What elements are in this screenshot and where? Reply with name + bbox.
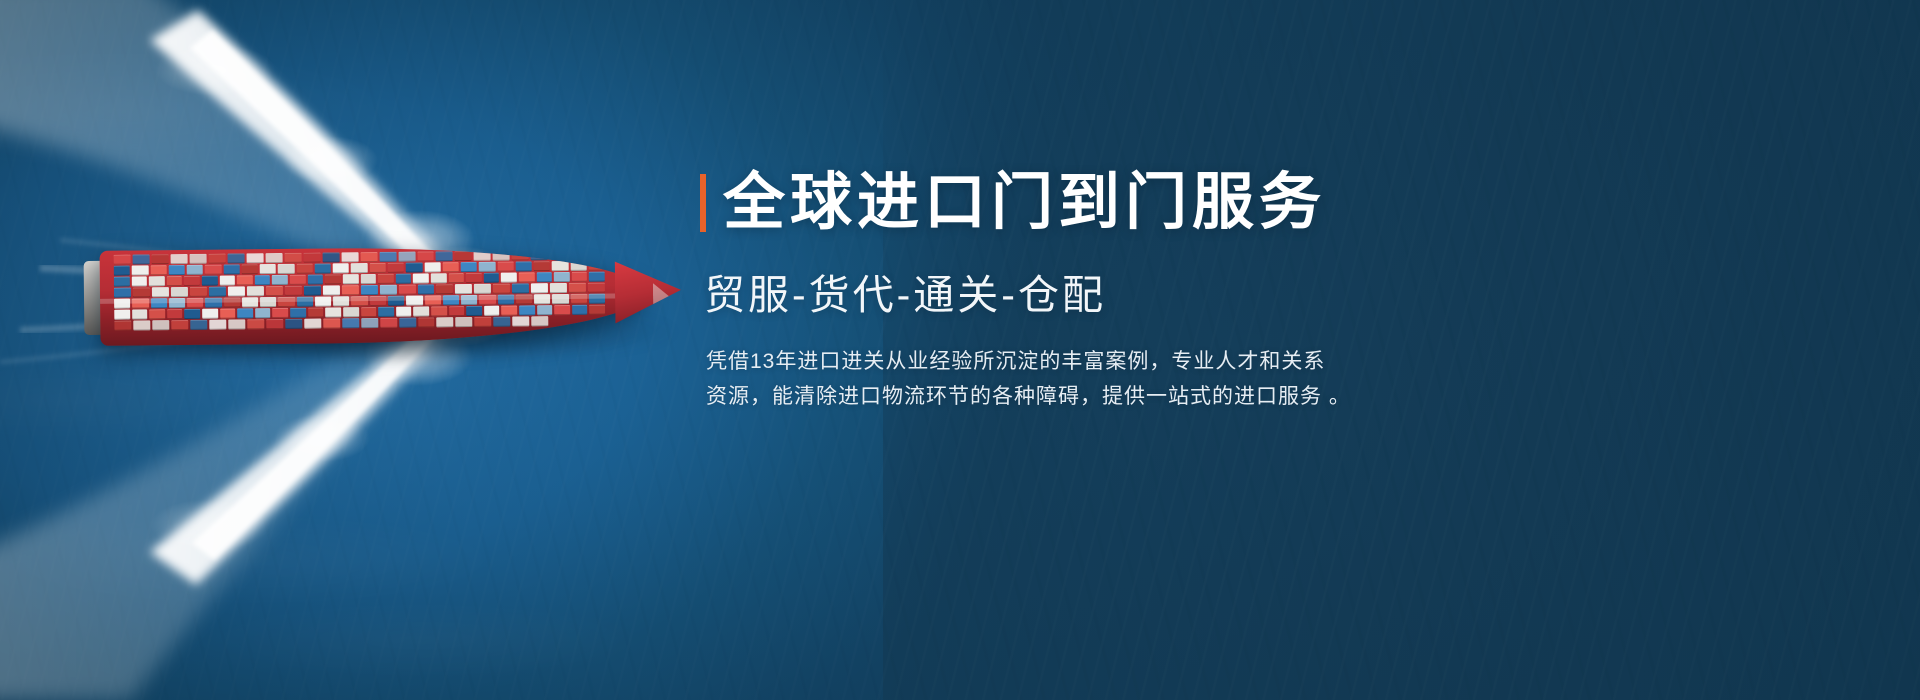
cargo-container bbox=[398, 285, 415, 295]
cargo-container bbox=[417, 284, 434, 294]
cargo-container bbox=[131, 276, 147, 286]
banner-title: 全球进口门到门服务 bbox=[723, 172, 1326, 234]
cargo-container bbox=[436, 284, 453, 294]
cargo-container bbox=[247, 286, 264, 296]
cargo-container bbox=[396, 307, 412, 317]
cargo-container bbox=[442, 262, 458, 272]
cargo-container bbox=[351, 263, 367, 273]
cargo-container bbox=[554, 272, 570, 282]
cargo-container bbox=[378, 307, 394, 317]
cargo-container bbox=[187, 265, 203, 275]
cargo-container bbox=[534, 261, 550, 271]
cargo-container bbox=[466, 273, 482, 283]
cargo-container bbox=[484, 273, 500, 283]
cargo-container bbox=[272, 275, 288, 285]
cargo-container bbox=[474, 284, 491, 294]
cargo-container bbox=[266, 319, 283, 329]
cargo-container bbox=[208, 254, 225, 264]
cargo-container bbox=[171, 320, 188, 330]
cargo-container bbox=[361, 307, 377, 317]
cargo-container bbox=[220, 308, 236, 318]
cargo-container bbox=[570, 261, 586, 271]
cargo-container bbox=[589, 272, 605, 282]
cargo-container bbox=[437, 317, 454, 327]
cargo-container bbox=[378, 274, 394, 284]
cargo-container bbox=[552, 261, 568, 271]
cargo-container bbox=[536, 272, 552, 282]
cargo-container bbox=[343, 307, 359, 317]
cargo-container bbox=[285, 286, 302, 296]
cargo-container bbox=[569, 283, 586, 293]
cargo-container bbox=[361, 318, 378, 328]
cargo-container bbox=[343, 274, 359, 284]
cargo-container bbox=[590, 305, 606, 315]
cargo-container bbox=[246, 253, 263, 263]
cargo-container bbox=[333, 263, 349, 273]
cargo-container bbox=[151, 254, 168, 264]
description-line-2: 资源，能清除进口物流环节的各种障碍，提供一站式的进口服务 。 bbox=[706, 379, 1418, 414]
cargo-container bbox=[484, 306, 500, 316]
cargo-container bbox=[466, 306, 482, 316]
cargo-container bbox=[205, 265, 221, 275]
cargo-container bbox=[456, 317, 473, 327]
cargo-container bbox=[532, 316, 549, 326]
cargo-container bbox=[589, 261, 605, 271]
cargo-container bbox=[114, 310, 130, 320]
cargo-container bbox=[342, 285, 359, 295]
cargo-container bbox=[449, 306, 465, 316]
cargo-container bbox=[455, 251, 472, 261]
cargo-container bbox=[255, 308, 271, 318]
cargo-container bbox=[133, 254, 150, 264]
cargo-container bbox=[209, 320, 226, 330]
cargo-container bbox=[303, 253, 320, 263]
cargo-container bbox=[342, 318, 359, 328]
cargo-container bbox=[168, 265, 184, 275]
cargo-container bbox=[149, 309, 165, 319]
cargo-container bbox=[413, 306, 429, 316]
cargo-container bbox=[360, 252, 377, 262]
cargo-container bbox=[493, 251, 510, 261]
cargo-container bbox=[114, 321, 131, 331]
cargo-container bbox=[307, 275, 323, 285]
cargo-container bbox=[296, 264, 312, 274]
cargo-container bbox=[114, 288, 131, 298]
cargo-container bbox=[325, 274, 341, 284]
cargo-container bbox=[461, 262, 477, 272]
cargo-container bbox=[572, 272, 588, 282]
cargo-container bbox=[455, 284, 472, 294]
cargo-container bbox=[413, 273, 429, 283]
cargo-container bbox=[219, 275, 235, 285]
cargo-container bbox=[266, 286, 283, 296]
cargo-container bbox=[512, 250, 529, 260]
cargo-container bbox=[227, 253, 244, 263]
cargo-container bbox=[379, 252, 396, 262]
cargo-container bbox=[380, 318, 397, 328]
cargo-container bbox=[260, 264, 276, 274]
cargo-container bbox=[424, 262, 440, 272]
cargo-container bbox=[513, 316, 530, 326]
title-row: 全球进口门到门服务 bbox=[700, 172, 1520, 234]
cargo-container bbox=[493, 284, 510, 294]
cargo-container bbox=[202, 309, 218, 319]
cargo-container bbox=[247, 319, 264, 329]
cargo-container bbox=[322, 252, 339, 262]
cargo-container bbox=[448, 273, 464, 283]
cargo-container bbox=[519, 272, 535, 282]
cargo-container bbox=[406, 262, 422, 272]
cargo-container bbox=[190, 287, 207, 297]
cargo-container bbox=[152, 320, 169, 330]
cargo-container bbox=[519, 305, 535, 315]
cargo-container bbox=[278, 264, 294, 274]
cargo-container bbox=[550, 283, 567, 293]
cargo-container bbox=[360, 285, 377, 295]
cargo-container bbox=[290, 308, 306, 318]
cargo-container bbox=[149, 276, 165, 286]
hero-banner: 全球进口门到门服务 贸服-货代-通关-仓配 凭借13年进口进关从业经验所沉淀的丰… bbox=[0, 0, 1920, 700]
accent-bar-icon bbox=[700, 174, 706, 232]
cargo-container bbox=[209, 287, 226, 297]
cargo-container bbox=[184, 276, 200, 286]
cargo-container bbox=[479, 262, 495, 272]
cargo-container bbox=[474, 251, 491, 261]
banner-subtitle: 贸服-货代-通关-仓配 bbox=[704, 272, 1520, 318]
banner-text-block: 全球进口门到门服务 贸服-货代-通关-仓配 凭借13年进口进关从业经验所沉淀的丰… bbox=[700, 172, 1520, 414]
cargo-container bbox=[323, 285, 340, 295]
cargo-container bbox=[418, 317, 435, 327]
cargo-container bbox=[531, 283, 548, 293]
cargo-container bbox=[228, 286, 245, 296]
cargo-container bbox=[167, 309, 183, 319]
cargo-container bbox=[133, 287, 150, 297]
cargo-container bbox=[285, 319, 302, 329]
cargo-container bbox=[341, 252, 358, 262]
cargo-container bbox=[273, 308, 289, 318]
cargo-container bbox=[255, 275, 271, 285]
cargo-container bbox=[396, 274, 412, 284]
cargo-container bbox=[189, 254, 206, 264]
cargo-container bbox=[308, 308, 324, 318]
cargo-container bbox=[171, 287, 188, 297]
cargo-container bbox=[475, 317, 492, 327]
cargo-container bbox=[537, 305, 553, 315]
cargo-container bbox=[515, 261, 531, 271]
cargo-container bbox=[325, 307, 341, 317]
cargo-container bbox=[554, 305, 570, 315]
cargo-container bbox=[133, 320, 150, 330]
cargo-container bbox=[304, 286, 321, 296]
cargo-container bbox=[431, 273, 447, 283]
cargo-container bbox=[265, 253, 282, 263]
cargo-container bbox=[369, 263, 385, 273]
cargo-container bbox=[531, 250, 548, 260]
banner-description: 凭借13年进口进关从业经验所沉淀的丰富案例，专业人才和关系 资源，能清除进口物流… bbox=[706, 344, 1418, 414]
cargo-container bbox=[494, 317, 511, 327]
cargo-container bbox=[150, 265, 166, 275]
cargo-container bbox=[417, 251, 434, 261]
cargo-container bbox=[304, 319, 321, 329]
cargo-container bbox=[431, 306, 447, 316]
cargo-container bbox=[185, 309, 201, 319]
cargo-container bbox=[132, 265, 148, 275]
cargo-container bbox=[323, 318, 340, 328]
cargo-container bbox=[242, 264, 258, 274]
cargo-container bbox=[399, 318, 416, 328]
ship-hull bbox=[100, 245, 646, 346]
cargo-container bbox=[170, 254, 187, 264]
cargo-container bbox=[284, 253, 301, 263]
cargo-container bbox=[114, 277, 130, 287]
cargo-container bbox=[190, 320, 207, 330]
cargo-container bbox=[398, 252, 415, 262]
cargo-container bbox=[588, 283, 605, 293]
cargo-container bbox=[228, 319, 245, 329]
cargo-container bbox=[502, 305, 518, 315]
cargo-container bbox=[388, 263, 404, 273]
cargo-container bbox=[290, 275, 306, 285]
cargo-container bbox=[132, 309, 148, 319]
cargo-container bbox=[114, 266, 130, 276]
cargo-container bbox=[202, 276, 218, 286]
description-line-1: 凭借13年进口进关从业经验所沉淀的丰富案例，专业人才和关系 bbox=[706, 344, 1418, 379]
cargo-container bbox=[237, 308, 253, 318]
cargo-container bbox=[152, 287, 169, 297]
cargo-container bbox=[436, 251, 453, 261]
cargo-container bbox=[512, 283, 529, 293]
cargo-container bbox=[379, 285, 396, 295]
cargo-container bbox=[237, 275, 253, 285]
cargo-container bbox=[360, 274, 376, 284]
container-ship bbox=[100, 245, 646, 346]
cargo-container bbox=[114, 255, 131, 265]
cargo-container bbox=[497, 262, 513, 272]
cargo-container bbox=[167, 276, 183, 286]
cargo-container bbox=[315, 263, 331, 273]
cargo-container bbox=[501, 272, 517, 282]
cargo-container bbox=[223, 264, 239, 274]
cargo-container bbox=[572, 305, 588, 315]
